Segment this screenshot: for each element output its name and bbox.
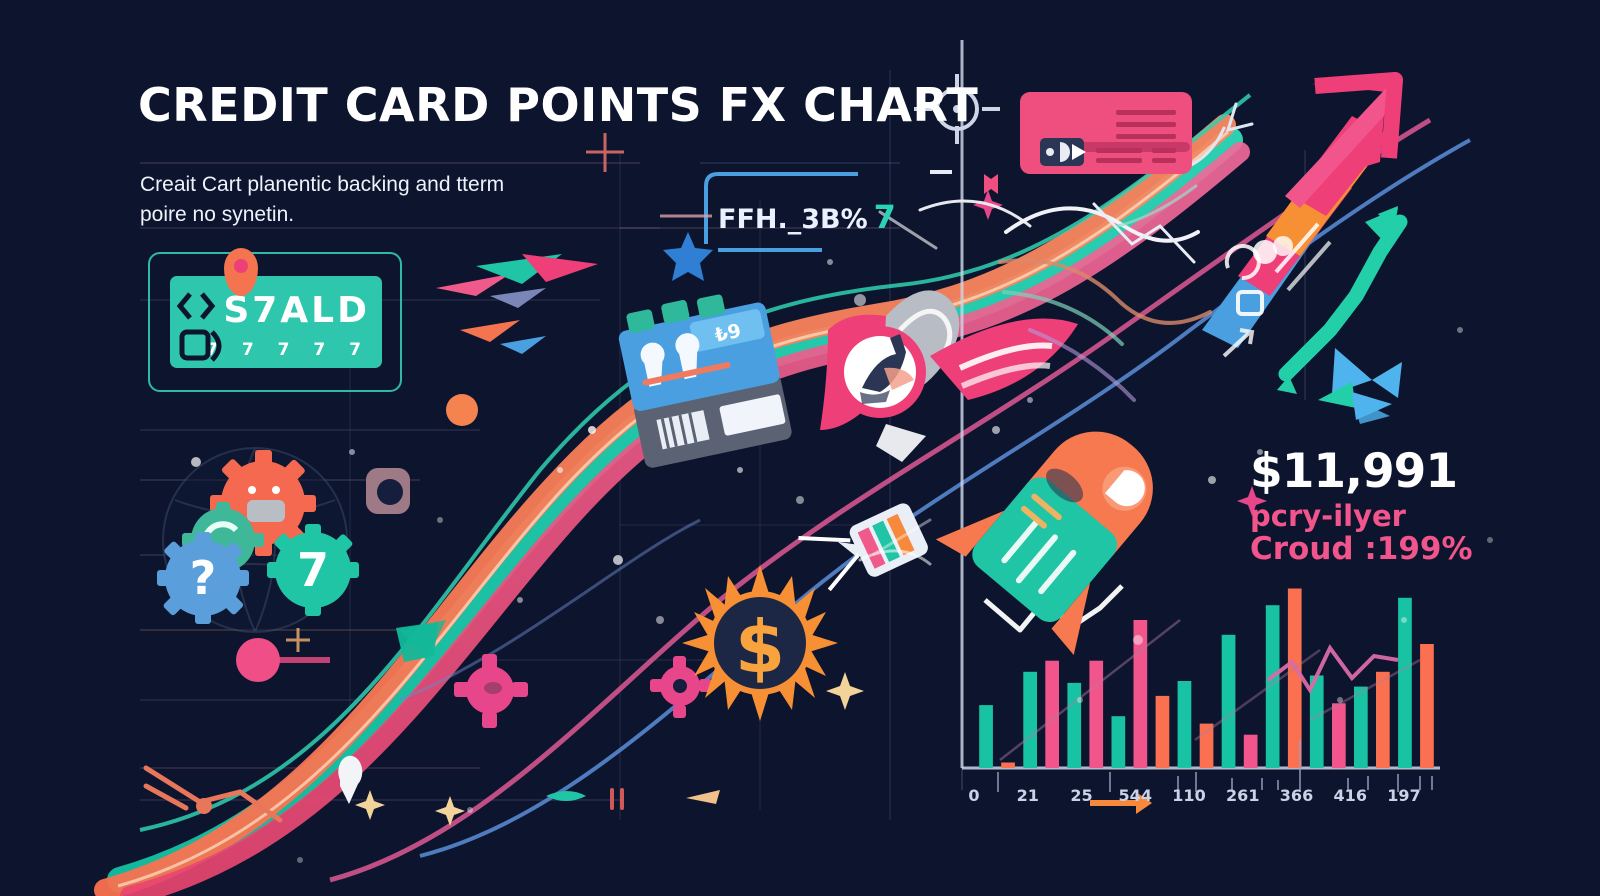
dot-orange bbox=[446, 394, 478, 426]
poster-canvas: ? 7 bbox=[0, 0, 1600, 896]
x-tick-6: 366 bbox=[1280, 786, 1313, 805]
percent-badge-label: FFH._3B% bbox=[718, 204, 868, 235]
kpi-subtitle-2: Croud :199% bbox=[1250, 533, 1580, 566]
percent-badge-seven: 7 bbox=[874, 198, 896, 236]
x-tick-4: 110 bbox=[1172, 786, 1205, 805]
wallet-card-icon: ₺9 bbox=[614, 283, 794, 469]
x-tick-2: 25 bbox=[1070, 786, 1092, 805]
kpi-subtitle-1: pcry-ilyer bbox=[1250, 501, 1580, 531]
x-tick-0: 0 bbox=[968, 786, 979, 805]
svg-text:$: $ bbox=[735, 605, 785, 689]
page-title: CREDIT CARD POINTS FX CHART bbox=[138, 78, 978, 132]
bar-20 bbox=[1420, 644, 1434, 768]
bar-18 bbox=[1376, 672, 1390, 768]
x-tick-3: 544 bbox=[1119, 786, 1152, 805]
dollar-starburst-icon: $ bbox=[682, 565, 838, 721]
bar-16 bbox=[1332, 703, 1346, 768]
bar-11 bbox=[1222, 635, 1236, 768]
svg-text:?: ? bbox=[190, 551, 217, 605]
bar-2 bbox=[1023, 672, 1037, 768]
bar-4 bbox=[1067, 683, 1081, 768]
card-badge[interactable]: S7ALD 7 7 7 7 7 bbox=[148, 252, 402, 392]
x-tick-5: 261 bbox=[1226, 786, 1259, 805]
bar-0 bbox=[979, 705, 993, 768]
percent-badge: FFH._3B%7 bbox=[718, 198, 896, 236]
bar-1 bbox=[1001, 763, 1015, 769]
bar-12 bbox=[1244, 735, 1258, 768]
bar-6 bbox=[1112, 716, 1126, 768]
svg-text:7: 7 bbox=[297, 543, 329, 597]
kpi-block: $11,991 pcry-ilyer Croud :199% bbox=[1250, 448, 1580, 566]
bar-17 bbox=[1354, 687, 1368, 768]
credit-card-icon bbox=[1020, 92, 1192, 174]
x-tick-1: 21 bbox=[1017, 786, 1039, 805]
kpi-value: $11,991 bbox=[1250, 448, 1580, 495]
bar-19 bbox=[1398, 598, 1412, 768]
bar-5 bbox=[1089, 661, 1103, 768]
bar-8 bbox=[1156, 696, 1170, 768]
x-tick-8: 197 bbox=[1387, 786, 1420, 805]
bar-9 bbox=[1178, 681, 1192, 768]
x-tick-7: 416 bbox=[1334, 786, 1367, 805]
card-badge-glyphs bbox=[176, 288, 286, 368]
x-axis-tick-labels: 02125544110261366416197 bbox=[960, 786, 1430, 810]
page-subtitle: Creait Cart planentic backing and tterm … bbox=[140, 170, 540, 231]
lens-icon bbox=[366, 468, 410, 514]
